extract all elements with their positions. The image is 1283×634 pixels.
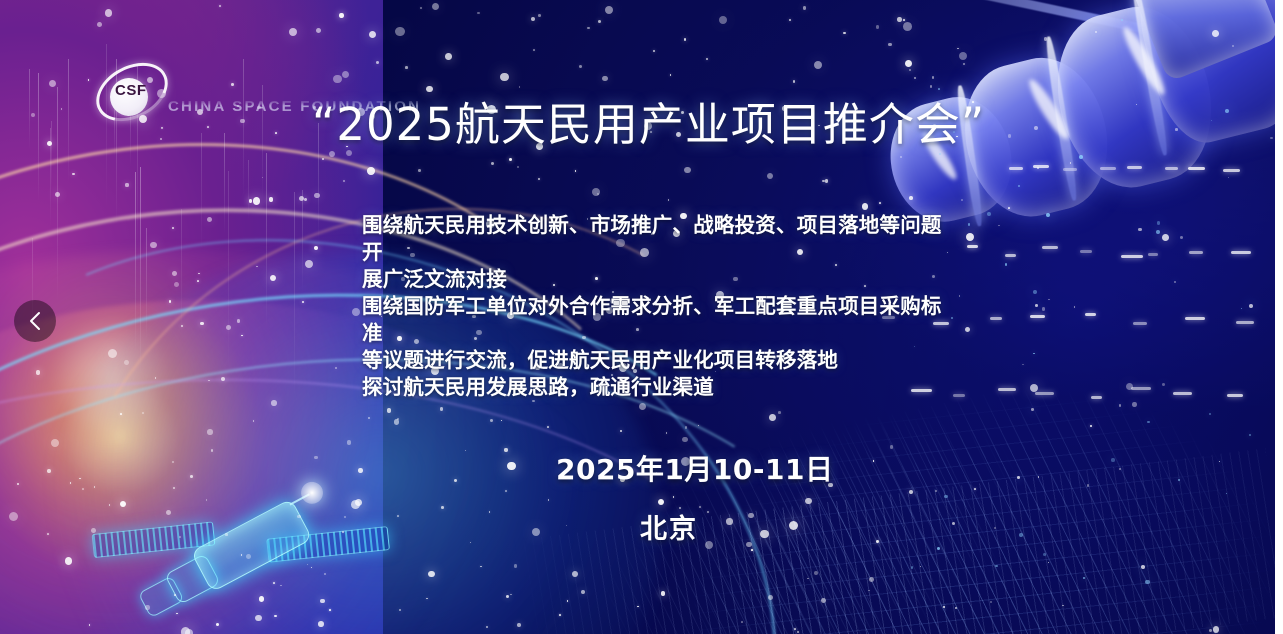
- particle-dot: [805, 498, 811, 504]
- particle-dot: [1212, 30, 1219, 37]
- particle-dot: [314, 456, 317, 459]
- csf-globe-orbit-logo: CSF: [96, 62, 162, 128]
- particle-dot: [273, 582, 275, 584]
- particle-dot: [504, 448, 507, 451]
- particle-dot: [1005, 263, 1007, 265]
- logo-mark-text: CSF: [115, 82, 147, 99]
- light-rod: [68, 59, 69, 183]
- particle-dot: [794, 628, 796, 630]
- particle-dot: [559, 614, 561, 616]
- particle-dot: [500, 73, 509, 82]
- particle-dot: [432, 3, 439, 10]
- particle-dot: [1178, 479, 1180, 481]
- particle-dot: [748, 513, 753, 518]
- particle-dot: [965, 327, 970, 332]
- light-rod: [228, 171, 229, 370]
- particle-dot: [741, 621, 743, 623]
- particle-dot: [605, 6, 613, 14]
- particle-dot: [344, 516, 346, 518]
- particle-dot: [909, 490, 913, 494]
- particle-dot: [876, 540, 879, 543]
- page-right-margin: [1275, 0, 1283, 634]
- particle-dot: [47, 469, 51, 473]
- light-dash: [1121, 255, 1143, 258]
- particle-dot: [197, 280, 199, 282]
- particle-dot: [181, 627, 190, 634]
- particle-dot: [592, 188, 600, 196]
- particle-dot: [339, 13, 343, 17]
- light-dash: [1009, 167, 1023, 170]
- particle-dot: [440, 407, 444, 411]
- event-city: 北京: [640, 507, 698, 546]
- particle-dot: [125, 183, 128, 186]
- hero-banner-slide: CSF CHINA SPACE FOUNDATION “2025航天民用产业项目…: [0, 0, 1275, 634]
- description-line: 展广泛文流对接: [362, 266, 962, 293]
- banner-description-list: 围绕航天民用技术创新、市场推广、战略投资、项目落地等问题开 展广泛文流对接 围绕…: [362, 212, 962, 401]
- particle-dot: [124, 360, 129, 365]
- light-dash: [1030, 315, 1045, 318]
- particle-dot: [1249, 434, 1251, 436]
- particle-dot: [505, 490, 507, 492]
- particle-dot: [719, 16, 727, 24]
- particle-dot: [1119, 404, 1121, 406]
- particle-dot: [304, 198, 307, 201]
- particle-dot: [47, 533, 49, 535]
- particle-dot: [270, 275, 276, 281]
- particle-dot: [1079, 155, 1083, 159]
- particle-dot: [1138, 228, 1142, 232]
- particle-dot: [1035, 304, 1038, 307]
- particle-dot: [706, 58, 708, 60]
- particle-dot: [726, 518, 732, 524]
- particle-dot: [246, 554, 251, 559]
- particle-dot: [445, 53, 452, 60]
- light-dash: [1185, 317, 1206, 320]
- banner-title: “2025航天民用产业项目推介会”: [312, 88, 985, 153]
- particle-dot: [253, 197, 260, 204]
- light-dash: [1091, 396, 1102, 399]
- particle-dot: [274, 615, 277, 618]
- light-dash: [1085, 313, 1097, 316]
- particle-dot: [82, 488, 84, 490]
- particle-dot: [418, 169, 421, 172]
- particle-dot: [1033, 353, 1035, 355]
- light-rod: [266, 153, 267, 328]
- carousel-prev-button[interactable]: [14, 300, 56, 342]
- particle-dot: [876, 25, 879, 28]
- particle-dot: [97, 22, 102, 27]
- light-dash: [998, 388, 1016, 391]
- particle-dot: [1162, 234, 1169, 241]
- particle-dot: [397, 515, 399, 517]
- particle-dot: [428, 571, 434, 577]
- particle-dot: [367, 167, 375, 175]
- particle-dot: [1042, 307, 1046, 311]
- light-dash: [1188, 167, 1205, 170]
- particle-dot: [305, 260, 313, 268]
- particle-dot: [903, 22, 912, 31]
- particle-dot: [579, 65, 582, 68]
- light-dash: [1131, 387, 1151, 390]
- light-rod: [181, 209, 182, 337]
- particle-dot: [961, 199, 963, 201]
- light-dash: [1173, 392, 1192, 395]
- particle-dot: [221, 377, 225, 381]
- light-dash: [1127, 166, 1142, 169]
- light-rod: [224, 133, 225, 234]
- particle-dot: [1157, 221, 1161, 225]
- particle-dot: [1070, 162, 1072, 164]
- particle-dot: [1145, 580, 1149, 584]
- particle-dot: [166, 510, 171, 515]
- light-dash: [1133, 322, 1148, 325]
- particle-dot: [1017, 476, 1020, 479]
- chevron-left-icon: [27, 311, 43, 331]
- particle-dot: [944, 495, 947, 498]
- satellite-main-module: [190, 498, 312, 592]
- light-dash: [1148, 253, 1158, 256]
- particle-dot: [241, 335, 243, 337]
- light-dash: [990, 317, 1002, 320]
- particle-dot: [271, 400, 276, 405]
- particle-dot: [1083, 577, 1085, 579]
- particle-dot: [890, 445, 893, 448]
- light-dash: [1035, 392, 1054, 395]
- event-date: 2025年1月10-11日: [556, 448, 833, 488]
- particle-dot: [825, 179, 828, 182]
- light-dash: [1165, 167, 1178, 170]
- particle-dot: [1074, 306, 1076, 308]
- particle-dot: [843, 32, 846, 35]
- particle-dot: [322, 158, 324, 160]
- particle-dot: [699, 506, 701, 508]
- particle-dot: [769, 414, 776, 421]
- particle-dot: [255, 615, 262, 622]
- particle-dot: [225, 533, 228, 536]
- particle-dot: [1226, 493, 1227, 494]
- particle-dot: [684, 167, 690, 173]
- light-rod: [140, 167, 141, 376]
- particle-dot: [531, 17, 535, 21]
- particle-dot: [862, 203, 868, 209]
- particle-dot: [289, 28, 297, 36]
- light-rod: [201, 133, 202, 250]
- particle-dot: [320, 599, 325, 604]
- light-rod: [248, 160, 249, 220]
- particle-dot: [966, 233, 974, 241]
- particle-dot: [822, 180, 825, 183]
- particle-dot: [533, 49, 535, 51]
- particle-dot: [454, 479, 457, 482]
- particle-dot: [65, 557, 72, 564]
- particle-dot: [89, 624, 91, 626]
- particle-dot: [746, 542, 751, 547]
- light-dash: [967, 245, 978, 248]
- particle-dot: [943, 606, 944, 607]
- light-dash: [1100, 167, 1116, 170]
- particle-dot: [538, 14, 541, 17]
- light-dash: [1005, 254, 1017, 257]
- particle-dot: [510, 594, 512, 596]
- particle-dot: [329, 609, 331, 611]
- particle-dot: [903, 19, 905, 21]
- particle-dot: [347, 440, 351, 444]
- particle-dot: [176, 613, 178, 615]
- description-line: 围绕航天民用技术创新、市场推广、战略投资、项目落地等问题开: [362, 212, 962, 266]
- particle-dot: [269, 197, 274, 202]
- light-dash: [1080, 250, 1092, 253]
- light-rod: [57, 87, 58, 303]
- satellite-antenna-dish: [297, 478, 327, 508]
- particle-dot: [173, 487, 175, 489]
- particle-dot: [1213, 626, 1219, 632]
- light-dash: [1236, 321, 1254, 324]
- light-rod: [146, 228, 147, 341]
- particle-dot: [909, 196, 913, 200]
- particle-dot: [105, 9, 112, 16]
- particle-dot: [145, 605, 149, 609]
- particle-dot: [142, 412, 144, 414]
- particle-dot: [514, 564, 517, 567]
- particle-dot: [172, 461, 174, 463]
- particle-dot: [963, 63, 965, 65]
- particle-dot: [1031, 408, 1034, 411]
- particle-dot: [658, 499, 664, 505]
- particle-dot: [994, 527, 996, 529]
- light-dash: [1033, 165, 1049, 168]
- particle-dot: [397, 418, 399, 420]
- light-rod: [294, 192, 295, 398]
- particle-dot: [172, 271, 177, 276]
- particle-dot: [1232, 45, 1234, 47]
- particle-dot: [778, 411, 781, 414]
- particle-dot: [237, 319, 241, 323]
- particle-dot: [760, 530, 768, 538]
- light-rod: [302, 190, 303, 293]
- particle-dot: [1175, 128, 1178, 131]
- particle-dot: [405, 66, 408, 69]
- light-dash: [1042, 246, 1057, 249]
- particle-dot: [668, 199, 670, 201]
- particle-dot: [909, 69, 911, 71]
- particle-dot: [94, 486, 96, 488]
- csf-logo: CSF CHINA SPACE FOUNDATION: [96, 62, 346, 136]
- particle-dot: [420, 7, 422, 9]
- particle-dot: [897, 17, 901, 21]
- particle-dot: [169, 300, 172, 303]
- light-dash: [1189, 251, 1203, 254]
- light-rod: [38, 73, 39, 202]
- particle-dot: [602, 76, 607, 81]
- particle-dot: [395, 27, 404, 36]
- particle-dot: [36, 370, 40, 374]
- particle-dot: [1022, 364, 1023, 365]
- light-rod: [50, 128, 51, 228]
- particle-dot: [211, 449, 214, 452]
- particle-dot: [1141, 565, 1145, 569]
- particle-dot: [821, 598, 826, 603]
- light-rod: [135, 172, 136, 354]
- particle-dot: [1241, 308, 1242, 309]
- particle-dot: [1046, 213, 1050, 217]
- light-rod: [29, 69, 30, 150]
- particle-dot: [768, 595, 773, 600]
- light-dash: [1223, 169, 1239, 172]
- particle-dot: [342, 531, 344, 533]
- particle-dot: [206, 499, 208, 501]
- particle-dot: [987, 212, 991, 216]
- particle-dot: [1249, 304, 1253, 308]
- particle-dot: [441, 506, 444, 509]
- description-line: 探讨航天民用发展思路，疏通行业渠道: [362, 374, 962, 401]
- particle-dot: [547, 426, 549, 428]
- particle-dot: [572, 571, 578, 577]
- particle-dot: [179, 536, 181, 538]
- particle-dot: [1156, 230, 1160, 234]
- particle-dot: [789, 521, 798, 530]
- particle-dot: [120, 413, 122, 415]
- particle-dot: [318, 621, 324, 627]
- particle-dot: [682, 437, 687, 442]
- particle-dot: [1019, 533, 1023, 537]
- particle-dot: [995, 565, 997, 567]
- particle-dot: [1132, 402, 1137, 407]
- light-dash: [1063, 168, 1077, 171]
- particle-dot: [172, 227, 174, 229]
- particle-dot: [207, 429, 212, 434]
- particle-dot: [369, 31, 376, 38]
- light-rod: [51, 121, 52, 190]
- particle-dot: [517, 623, 521, 627]
- particle-dot: [661, 591, 666, 596]
- particle-dot: [1111, 458, 1115, 462]
- particle-dot: [477, 12, 479, 14]
- particle-dot: [1044, 37, 1048, 41]
- particle-dot: [751, 549, 753, 551]
- particle-dot: [358, 468, 363, 473]
- light-dash: [1227, 394, 1243, 397]
- description-line: 等议题进行交流，促进航天民用产业化项目转移落地: [362, 347, 962, 374]
- particle-dot: [51, 439, 59, 447]
- particle-dot: [507, 462, 516, 471]
- particle-dot: [1008, 207, 1010, 209]
- particle-dot: [879, 202, 881, 204]
- particle-dot: [1270, 137, 1273, 140]
- description-line: 围绕国防军工单位对外合作需求分折、军工配套重点项目采购标准: [362, 293, 962, 347]
- particle-dot: [911, 566, 914, 569]
- particle-dot: [387, 408, 392, 413]
- particle-dot: [316, 28, 321, 33]
- particle-dot: [974, 488, 976, 490]
